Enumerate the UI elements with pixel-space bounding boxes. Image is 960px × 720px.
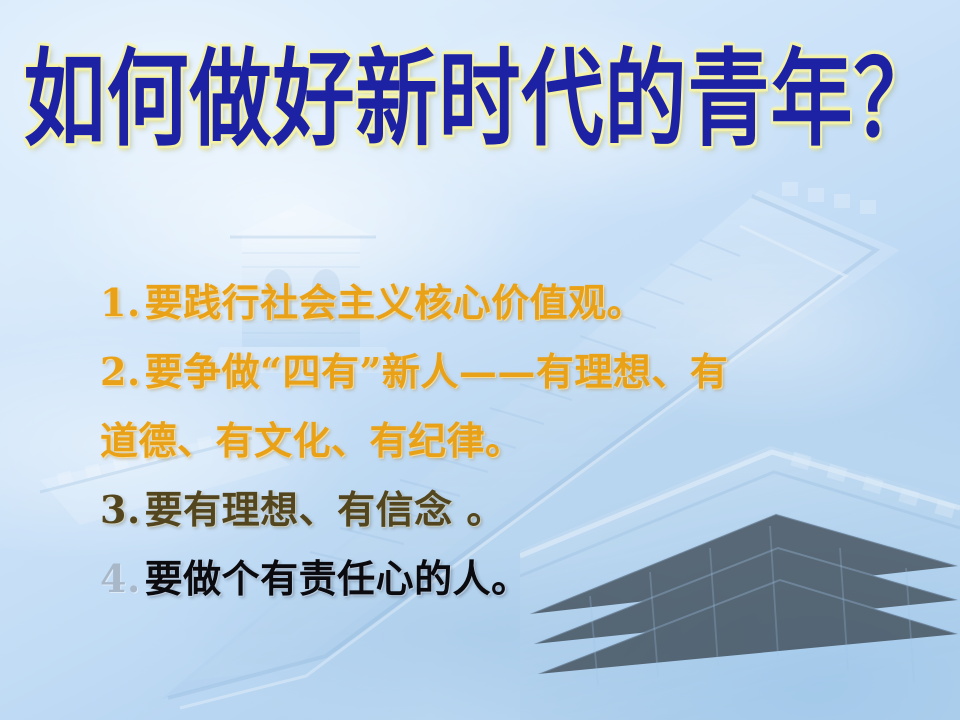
presentation-slide: 如何做好新时代的青年？ 1.要践行社会主义核心价值观。 2.要争做“四有”新人—… (0, 0, 960, 720)
list-item: 1.要践行社会主义核心价值观。 (100, 268, 900, 337)
list-item-text: 要有理想、有信念 。 (145, 487, 505, 532)
list-item-number: 2. (100, 349, 145, 394)
list-item-number: 3. (100, 487, 145, 532)
list-item-text: 道德、有文化、有纪律。 (100, 418, 524, 463)
list-item-number: 1. (100, 280, 145, 325)
list-item-continuation: 道德、有文化、有纪律。 (100, 406, 900, 475)
list-item-number: 4. (100, 556, 145, 601)
list-item: 2.要争做“四有”新人——有理想、有 (100, 337, 900, 406)
list-item-text: 要做个有责任心的人。 (145, 556, 530, 601)
slide-title-text: 如何做好新时代的青年？ (23, 46, 936, 155)
list-item-text: 要争做“四有”新人——有理想、有 (145, 349, 729, 394)
list-item: 3.要有理想、有信念 。 (100, 475, 900, 544)
slide-title: 如何做好新时代的青年？ (0, 46, 960, 131)
list-item: 4.要做个有责任心的人。 (100, 544, 900, 613)
list-item-text: 要践行社会主义核心价值观。 (145, 280, 646, 325)
slide-body-list: 1.要践行社会主义核心价值观。 2.要争做“四有”新人——有理想、有 道德、有文… (100, 268, 900, 613)
